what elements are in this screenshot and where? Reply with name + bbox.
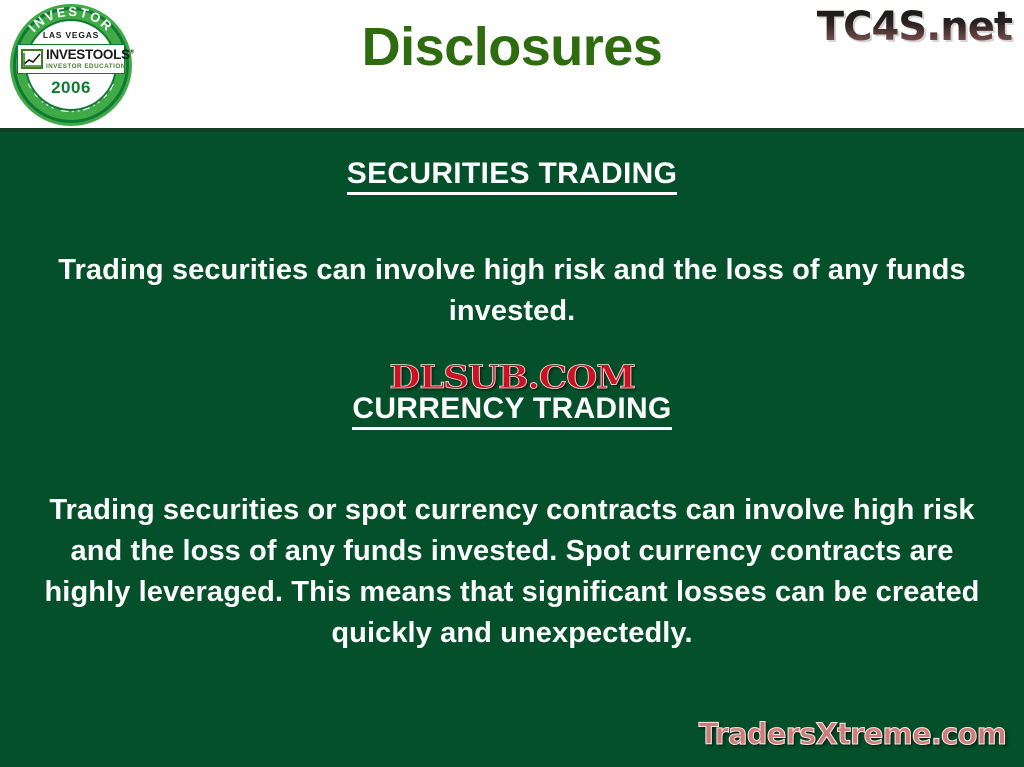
section-heading-currency: CURRENCY TRADING xyxy=(0,392,1024,426)
tradersxtreme-watermark: TradersXtreme.com xyxy=(699,717,1006,751)
section-heading-currency-label: CURRENCY TRADING xyxy=(352,392,671,430)
seal-year-label: 2006 xyxy=(10,78,132,98)
dlsub-watermark: DLSUB.COM xyxy=(0,358,1024,396)
section-body-securities: Trading securities can involve high risk… xyxy=(28,250,996,332)
section-heading-securities-label: SECURITIES TRADING xyxy=(347,157,677,195)
slide-body: SECURITIES TRADING Trading securities ca… xyxy=(0,132,1024,767)
section-body-currency: Trading securities or spot currency cont… xyxy=(28,490,996,654)
section-heading-securities: SECURITIES TRADING xyxy=(0,157,1024,191)
slide-header: INVESTOR CONFERENCE LAS VEGAS INVESTOOLS… xyxy=(0,0,1024,128)
slide: INVESTOR CONFERENCE LAS VEGAS INVESTOOLS… xyxy=(0,0,1024,767)
tc4s-brandmark: TC4S.net xyxy=(817,4,1012,50)
